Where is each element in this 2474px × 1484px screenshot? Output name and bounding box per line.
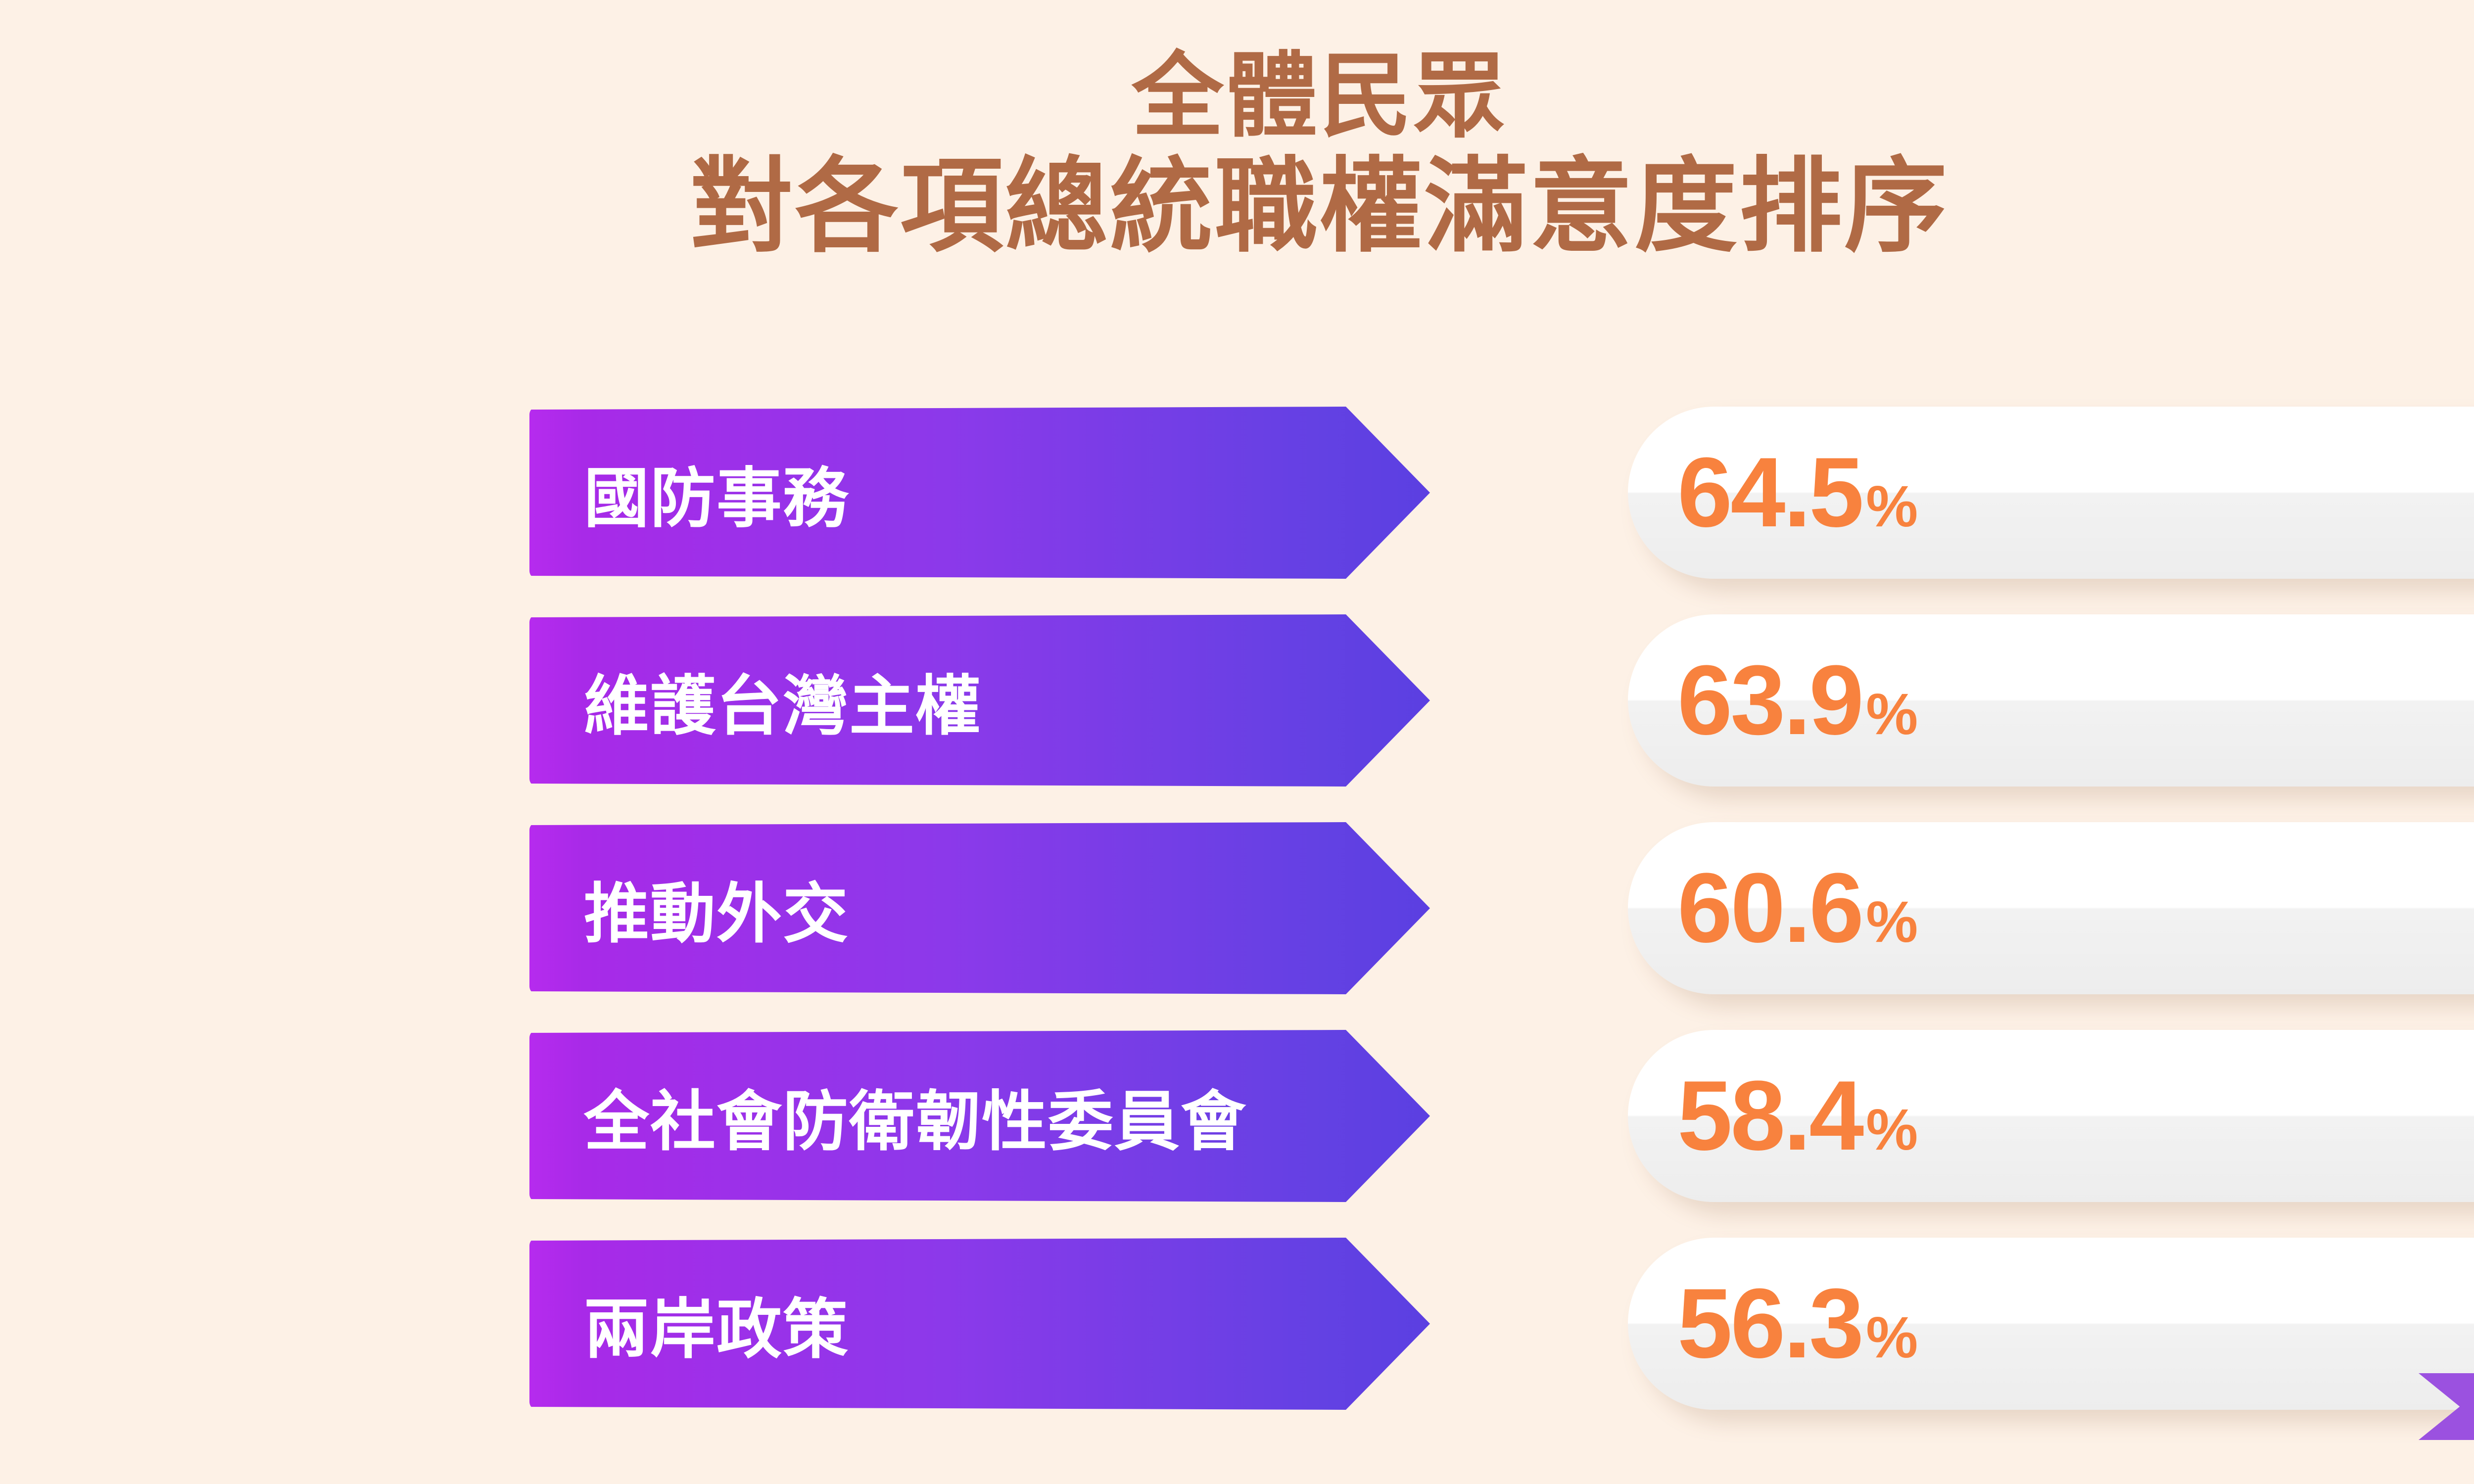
row-category-label: 推動外交	[584, 822, 849, 994]
row-category-label: 全社會防衛韌性委員會	[584, 1030, 1247, 1202]
row-value: 63.9%	[1677, 614, 1918, 787]
row-value-number: 58.4	[1677, 1067, 1862, 1165]
ranking-row: 全社會防衛韌性委員會 58.4%	[529, 1030, 2078, 1202]
row-percent-sign: %	[1866, 1308, 1918, 1367]
ranking-row: 兩岸政策 56.3%	[529, 1238, 2078, 1410]
title-line-secondary: 對各項總統職權滿意度排序	[0, 149, 2474, 265]
row-percent-sign: %	[1866, 477, 1918, 536]
row-value: 60.6%	[1677, 822, 1918, 994]
row-value-number: 60.6	[1677, 859, 1862, 958]
infographic-poster: 全體民眾 對各項總統職權滿意度排序 國防事務 64.5% 維護台灣主權 63.9…	[0, 0, 2474, 1484]
row-value-number: 56.3	[1677, 1274, 1862, 1373]
row-category-label: 國防事務	[584, 407, 849, 579]
row-value-number: 64.5	[1677, 443, 1862, 542]
row-percent-sign: %	[1866, 893, 1918, 951]
ranking-row: 推動外交 60.6%	[529, 822, 2078, 994]
row-percent-sign: %	[1866, 685, 1918, 743]
page-title: 全體民眾 對各項總統職權滿意度排序	[0, 47, 2474, 265]
ranking-row: 國防事務 64.5%	[529, 407, 2078, 579]
row-category-label: 兩岸政策	[584, 1238, 849, 1410]
row-value: 56.3%	[1677, 1238, 1918, 1410]
ranking-bar-list: 國防事務 64.5% 維護台灣主權 63.9% 推動外交 60.6% 全社會防衛…	[529, 407, 2078, 1410]
row-percent-sign: %	[1866, 1101, 1918, 1159]
row-value: 58.4%	[1677, 1030, 1918, 1202]
ranking-row: 維護台灣主權 63.9%	[529, 614, 2078, 787]
row-category-label: 維護台灣主權	[584, 614, 982, 787]
row-value: 64.5%	[1677, 407, 1918, 579]
title-line-primary: 全體民眾	[0, 47, 2474, 146]
row-value-number: 63.9	[1677, 651, 1862, 750]
